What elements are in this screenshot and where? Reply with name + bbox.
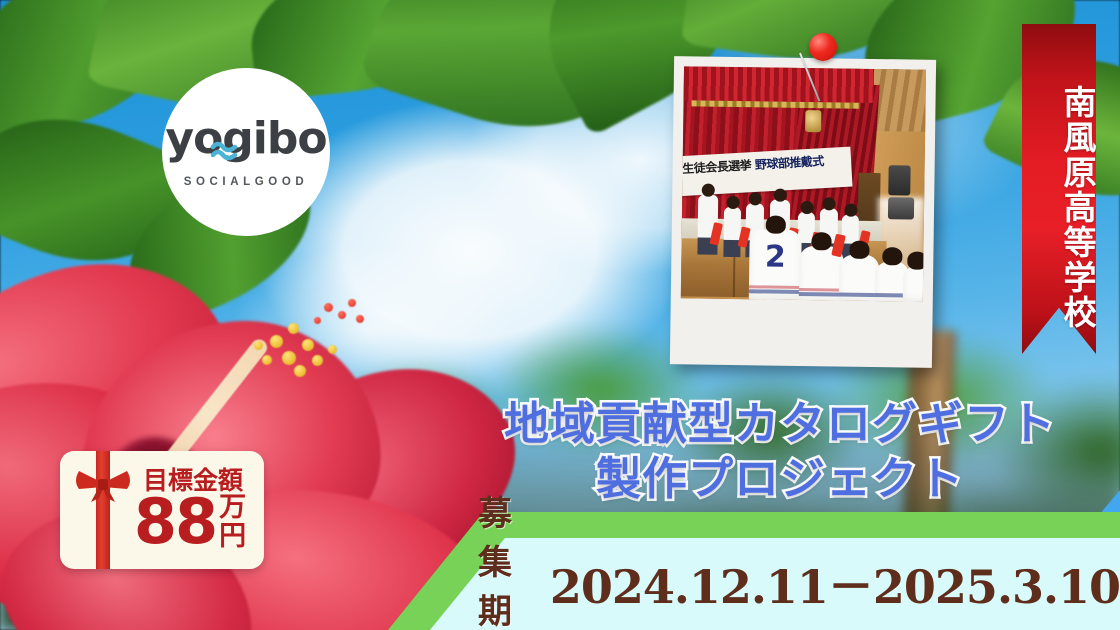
pushpin-icon	[809, 33, 837, 61]
project-title-line2: 製作プロジェクト	[460, 451, 1100, 506]
project-title-line1: 地域貢献型カタログギフト	[460, 396, 1100, 451]
pollen	[328, 345, 337, 354]
photo-event-banner-text: 生徒会長選挙 野球部推戴式	[682, 153, 848, 176]
photo-seated-player	[903, 265, 926, 301]
stigma-tip	[356, 315, 364, 323]
photo-image: 生徒会長選挙 野球部推戴式	[681, 66, 926, 301]
stigma-tip	[314, 317, 321, 324]
logo-subtitle: SOCIALGOOD	[184, 176, 309, 188]
banner-text-2: 野球部推戴式	[754, 154, 824, 172]
stigma-tip	[324, 303, 333, 312]
polaroid-photo: 生徒会長選挙 野球部推戴式	[670, 56, 936, 368]
photo-seated-player: 2	[749, 229, 802, 301]
stigma-tip	[338, 311, 346, 319]
pollen	[294, 365, 306, 377]
period-dates: 2024.12.11－2025.3.10	[550, 551, 1120, 617]
banner-text-1: 生徒会長選挙	[682, 158, 752, 176]
pollen	[254, 341, 263, 350]
pollen	[312, 355, 323, 366]
period-label: 募集期間	[478, 486, 532, 630]
pollen	[262, 355, 272, 365]
photo-speaker	[888, 165, 910, 195]
period-content: 募集期間 2024.12.11－2025.3.10	[478, 538, 1120, 630]
photo-speaker	[888, 197, 914, 219]
yogibo-logo: yogibo SOCIALGOOD	[162, 68, 330, 236]
pollen	[270, 335, 283, 348]
goal-amount-badge: 目標金額 88 万 円	[60, 451, 264, 569]
photo-seated-player	[839, 255, 880, 302]
goal-unit-man: 万	[219, 493, 246, 522]
goal-unit: 万 円	[219, 493, 246, 551]
goal-number: 88	[134, 491, 216, 553]
photo-curtain-valance	[684, 66, 874, 103]
stigma-tip	[348, 299, 356, 307]
photo-school-emblem	[805, 110, 821, 132]
photo-jersey-number: 2	[765, 239, 786, 274]
promo-banner: yogibo SOCIALGOOD 生徒会長選挙 野球部推戴	[0, 0, 1120, 630]
school-ribbon-label: 南風原高等学校	[1022, 24, 1096, 354]
pollen	[302, 339, 314, 351]
pollen	[282, 351, 296, 365]
pollen	[288, 323, 299, 334]
logo-wordmark: yogibo	[165, 117, 326, 161]
photo-student-standing	[724, 207, 741, 241]
goal-unit-yen: 円	[219, 522, 246, 551]
project-title: 地域貢献型カタログギフト 製作プロジェクト	[460, 396, 1100, 506]
logo-wordmark-text: yogibo	[165, 113, 326, 164]
goal-amount: 88 万 円	[116, 491, 264, 553]
